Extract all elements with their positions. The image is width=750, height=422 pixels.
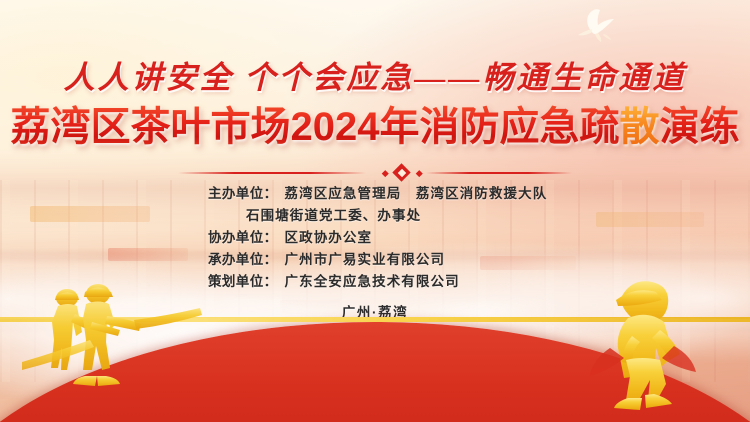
organizer-row-coorganizer: 协办单位： 区政协办公室 [208, 226, 542, 246]
divider-center-ornament [374, 166, 430, 180]
organizer-value: 广东全安应急技术有限公司 [285, 270, 460, 290]
organizer-row-undertaker: 承办单位： 广州市广易实业有限公司 [208, 248, 542, 268]
title-segment-red-2: 演练 [659, 105, 739, 149]
page-title: 荔湾区茶叶市场2024年消防应急疏散演练 [0, 104, 750, 150]
diamond-divider-ornament [178, 166, 572, 180]
divider-line-right [426, 172, 572, 174]
organizer-value: 石围塘街道党工委、办事处 [246, 204, 421, 224]
organizer-label: 主办单位： [208, 182, 278, 202]
organizer-row-planner: 策划单位： 广东全安应急技术有限公司 [208, 270, 542, 290]
organizer-label: 协办单位： [208, 226, 278, 246]
divider-dot-right [416, 170, 422, 176]
firefighters-with-hose-silhouette [22, 276, 202, 388]
organizer-value: 荔湾区应急管理局 荔湾区消防救援大队 [285, 182, 548, 202]
divider-dot-left [382, 170, 388, 176]
title-segment-gold: 散 [619, 105, 659, 149]
organizer-label: 策划单位： [208, 270, 278, 290]
organizer-row-host: 主办单位： 荔湾区应急管理局 荔湾区消防救援大队 [208, 182, 542, 202]
divider-line-left [178, 172, 366, 174]
organizer-row-host-continued: 石围塘街道党工委、办事处 [170, 204, 580, 224]
slogan-text: 人人讲安全 个个会应急——畅通生命通道 [0, 52, 750, 97]
fire-drill-poster: 人人讲安全 个个会应急——畅通生命通道 荔湾区茶叶市场2024年消防应急疏散演练… [0, 0, 750, 422]
organizer-value: 区政协办公室 [285, 226, 373, 246]
dove-icon [562, 6, 622, 48]
firefighter-silhouette [588, 274, 704, 410]
organizer-label: 承办单位： [208, 248, 278, 268]
organizer-value: 广州市广易实业有限公司 [285, 248, 446, 268]
title-segment-red-1: 荔湾区茶叶市场2024年消防应急疏 [11, 105, 620, 149]
